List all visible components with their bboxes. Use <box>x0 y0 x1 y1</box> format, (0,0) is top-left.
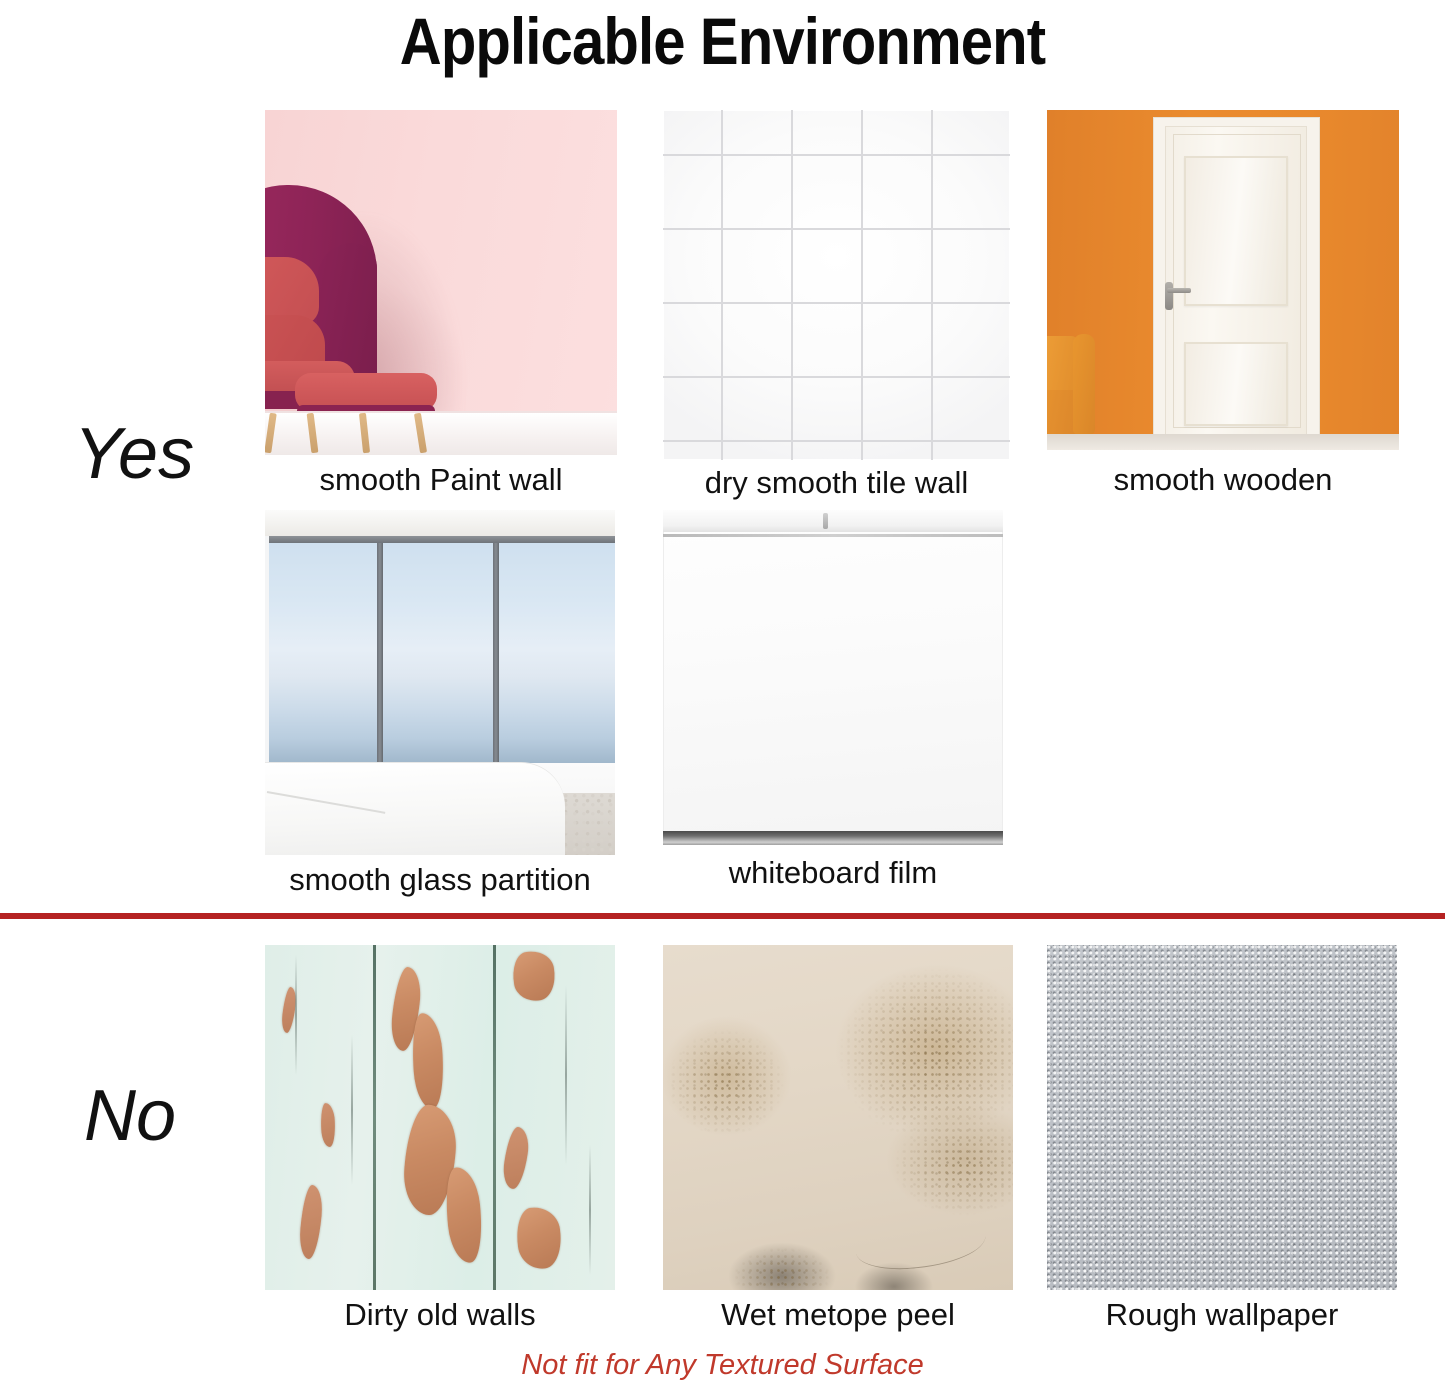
floor-strip <box>1047 434 1399 450</box>
white-terrace-slab <box>265 763 565 855</box>
rough-gray-wallpaper-photo <box>1047 945 1397 1290</box>
environment-cell-wet-metope-peel: Wet metope peel <box>663 945 1013 1290</box>
page-title: Applicable Environment <box>87 2 1359 80</box>
verdict-label-no: No <box>84 1080 176 1152</box>
glass-mullion <box>377 543 383 765</box>
environment-cell-dry-smooth-tile-wall: dry smooth tile wall <box>663 110 1010 460</box>
whiteboard-surface <box>663 510 1003 845</box>
whiteboard-clip <box>823 513 828 529</box>
stipple-texture <box>1047 945 1397 1290</box>
environment-cell-whiteboard-film: whiteboard film <box>663 510 1003 845</box>
sky-through-glass <box>269 543 615 765</box>
glass-partition-photo <box>265 510 615 855</box>
caption-dry-smooth-tile-wall: dry smooth tile wall <box>705 465 969 501</box>
plank-seam <box>493 945 496 1290</box>
section-divider <box>0 913 1445 919</box>
stained-beige-wall-photo <box>663 945 1013 1290</box>
pink-paint-wall-photo <box>265 110 617 455</box>
warning-note: Not fit for Any Textured Surface <box>0 1348 1445 1382</box>
orange-wall-door-photo <box>1047 110 1399 450</box>
door-panel-upper <box>1184 156 1288 306</box>
caption-whiteboard-film: whiteboard film <box>729 855 937 891</box>
caption-wet-metope-peel: Wet metope peel <box>721 1297 955 1333</box>
door-escutcheon <box>1165 282 1173 310</box>
caption-smooth-wooden: smooth wooden <box>1114 462 1333 498</box>
tile-wall-surface <box>663 110 1010 460</box>
door-panel-lower <box>1184 342 1288 426</box>
glass-mullion <box>493 543 499 765</box>
environment-cell-rough-wallpaper: Rough wallpaper <box>1047 945 1397 1290</box>
white-tile-wall-photo <box>663 110 1010 460</box>
whiteboard-top-rail <box>663 510 1003 532</box>
environment-cell-smooth-wooden: smooth wooden <box>1047 110 1399 450</box>
whiteboard-film-photo <box>663 510 1003 845</box>
partition-track <box>269 536 615 543</box>
plank-seam <box>373 945 376 1290</box>
orange-sofa-armrest <box>1073 334 1095 434</box>
environment-cell-smooth-glass-partition: smooth glass partition <box>265 510 615 855</box>
peeling-mint-wood-photo <box>265 945 615 1290</box>
verdict-label-yes: Yes <box>74 418 194 490</box>
caption-rough-wallpaper: Rough wallpaper <box>1106 1297 1339 1333</box>
caption-dirty-old-walls: Dirty old walls <box>344 1297 535 1333</box>
environment-cell-smooth-paint-wall: smooth Paint wall <box>265 110 617 455</box>
whiteboard-pen-tray <box>663 831 1003 845</box>
caption-smooth-paint-wall: smooth Paint wall <box>320 462 563 498</box>
door-handle <box>1167 288 1191 293</box>
environment-cell-dirty-old-walls: Dirty old walls <box>265 945 615 1290</box>
ceiling-strip <box>265 510 615 536</box>
whiteboard-top-edge <box>663 534 1003 537</box>
caption-smooth-glass-partition: smooth glass partition <box>289 862 591 898</box>
